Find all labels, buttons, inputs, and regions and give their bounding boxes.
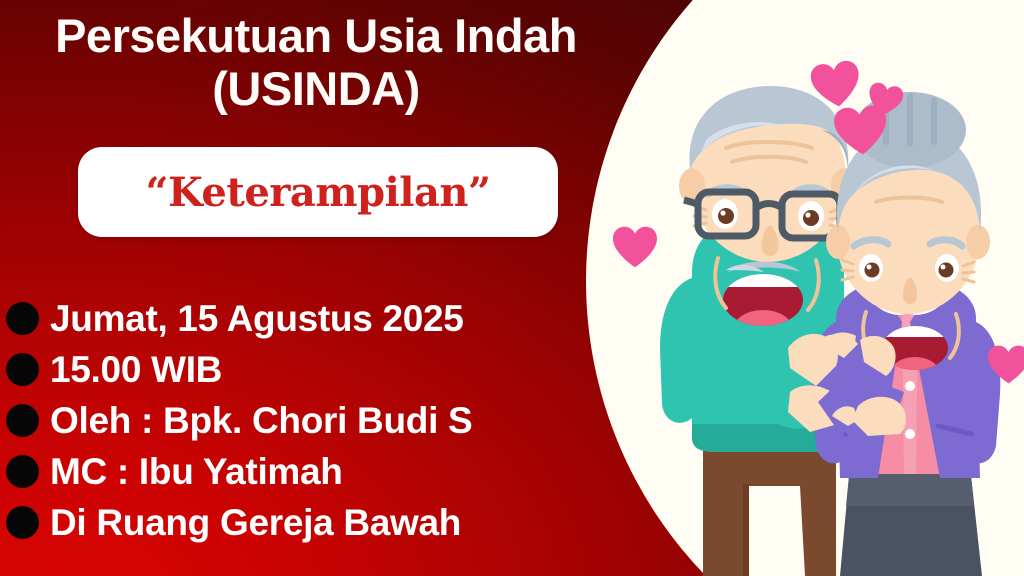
theme-label: “Keterampilan” — [146, 169, 491, 216]
heart-icon-left — [613, 226, 657, 268]
list-item: 15.00 WIB — [6, 344, 472, 395]
bullet-dot-icon — [6, 302, 39, 335]
page-title-line-2: (USINDA) — [0, 63, 632, 116]
bullet-dot-icon — [6, 455, 39, 488]
bullet-dot-icon — [6, 506, 39, 539]
list-item: Jumat, 15 Agustus 2025 — [6, 293, 472, 344]
heart-icon-top-large — [809, 59, 863, 110]
heart-icon-middle — [833, 104, 889, 157]
list-item: Oleh : Bpk. Chori Budi S — [6, 395, 472, 446]
event-mc: MC : Ibu Yatimah — [50, 453, 343, 490]
event-location: Di Ruang Gereja Bawah — [50, 504, 461, 541]
heart-icon-right — [988, 345, 1024, 384]
page-title-line-1: Persekutuan Usia Indah — [0, 10, 632, 63]
usinda-event-poster: Persekutuan Usia Indah (USINDA) “Keteram… — [0, 0, 1024, 576]
bullet-dot-icon — [6, 404, 39, 437]
bullet-dot-icon — [6, 353, 39, 386]
list-item: Di Ruang Gereja Bawah — [6, 497, 472, 548]
event-speaker: Oleh : Bpk. Chori Budi S — [50, 402, 472, 439]
event-details-list: Jumat, 15 Agustus 2025 15.00 WIB Oleh : … — [6, 293, 472, 548]
elderly-couple-illustration — [640, 86, 1024, 576]
event-date: Jumat, 15 Agustus 2025 — [50, 300, 464, 337]
list-item: MC : Ibu Yatimah — [6, 446, 472, 497]
page-title: Persekutuan Usia Indah (USINDA) — [0, 10, 632, 115]
theme-banner: “Keterampilan” — [78, 147, 558, 237]
event-time: 15.00 WIB — [50, 351, 222, 388]
